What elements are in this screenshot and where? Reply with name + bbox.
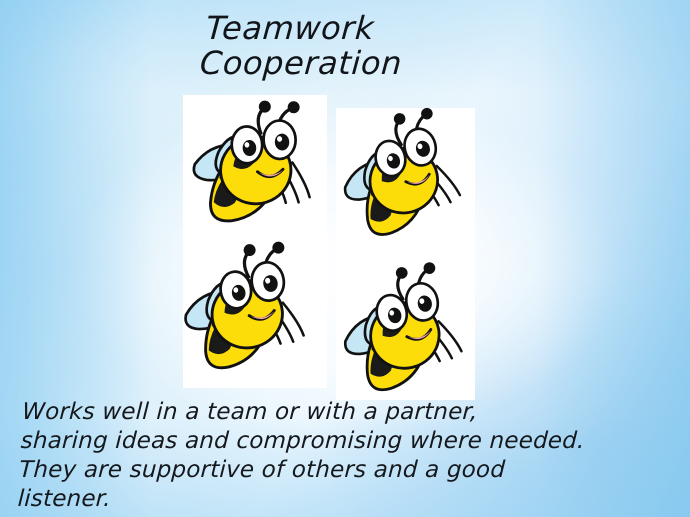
- description-line-1: Works well in a team or with a partner,: [22, 398, 684, 427]
- page-title: Teamwork Cooperation: [200, 12, 402, 79]
- bee-illustration-bottom-left: [168, 238, 328, 400]
- bee-illustration-bottom-right: [328, 260, 484, 420]
- description-line-3: They are supportive of others and a good: [18, 456, 680, 485]
- poster-slide: Teamwork Cooperation: [0, 0, 690, 517]
- description-line-2: sharing ideas and compromising where nee…: [20, 427, 682, 456]
- bee-illustration-top-right: [328, 106, 482, 264]
- title-line-teamwork: Teamwork: [205, 12, 403, 45]
- bee-illustration-top-left: [176, 94, 336, 256]
- title-line-cooperation: Cooperation: [199, 47, 403, 80]
- description-line-4: listener.: [17, 485, 679, 514]
- description-text: Works well in a team or with a partner, …: [17, 398, 683, 514]
